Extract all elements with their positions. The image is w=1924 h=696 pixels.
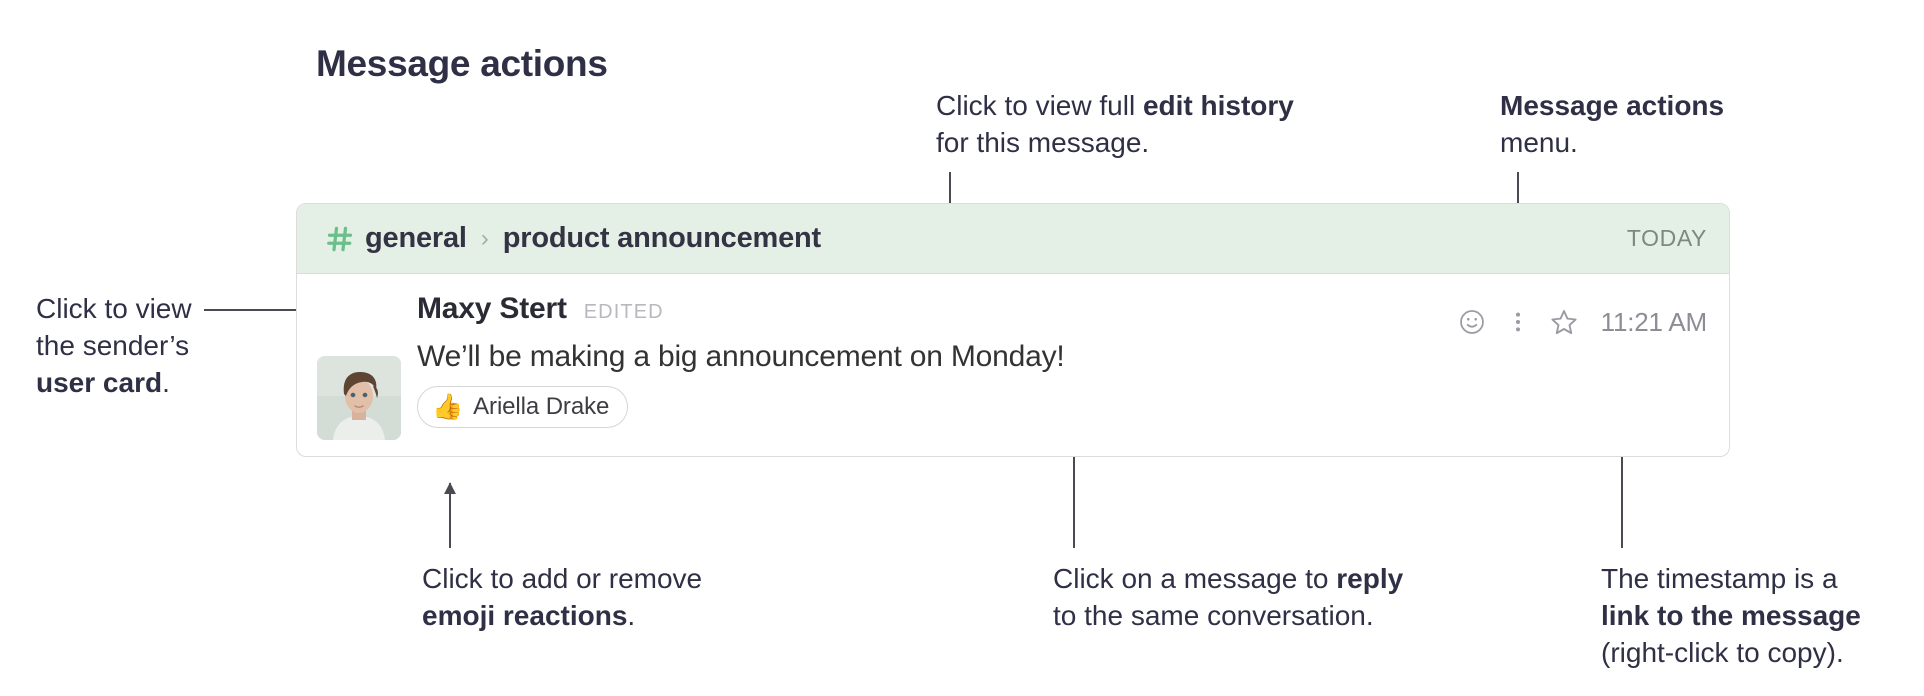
annotation-user-card: Click to view the sender’s user card. <box>36 290 276 401</box>
annotation-reply-line1-bold: reply <box>1336 563 1403 594</box>
annotation-user-card-line2: the sender’s <box>36 330 189 361</box>
annotation-actions-menu-line2: menu. <box>1500 127 1578 158</box>
annotation-user-card-line3: user card <box>36 367 162 398</box>
annotation-emoji-reactions: Click to add or remove emoji reactions. <box>422 560 782 634</box>
reaction-label: Ariella Drake <box>473 393 609 421</box>
annotation-edit-history-line1-bold: edit history <box>1143 90 1294 121</box>
stream-name[interactable]: general <box>365 222 467 255</box>
annotation-timestamp: The timestamp is a link to the message (… <box>1601 560 1924 671</box>
edited-label[interactable]: EDITED <box>584 301 664 324</box>
message-card: general › product announcement TODAY <box>296 203 1730 457</box>
annotation-user-card-line1: Click to view <box>36 293 192 324</box>
annotation-emoji-line2: emoji reactions <box>422 600 627 631</box>
annotation-reply-line2: to the same conversation. <box>1053 600 1374 631</box>
recipient-date-label[interactable]: TODAY <box>1627 225 1707 252</box>
message-controls: 11:21 AM <box>1449 302 1707 342</box>
message-row[interactable]: Maxy Stert EDITED We’ll be making a big … <box>297 274 1729 456</box>
annotation-timestamp-line2: link to the message <box>1601 600 1861 631</box>
emoji-reaction-icon[interactable] <box>1449 302 1495 342</box>
reaction-pill[interactable]: 👍 Ariella Drake <box>417 386 628 428</box>
annotation-reply: Click on a message to reply to the same … <box>1053 560 1453 634</box>
thumbs-up-icon: 👍 <box>432 395 463 420</box>
breadcrumb-chevron-icon: › <box>481 227 489 251</box>
recipient-bar: general › product announcement TODAY <box>297 204 1729 274</box>
page-root: Message actions Click to view full edit … <box>0 0 1924 696</box>
avatar[interactable] <box>317 356 401 440</box>
page-title: Message actions <box>316 43 608 85</box>
annotation-actions-menu-line1: Message actions <box>1500 90 1724 121</box>
annotation-edit-history-line1-plain: Click to view full <box>936 90 1143 121</box>
annotation-edit-history: Click to view full edit history for this… <box>936 87 1356 161</box>
annotation-reply-line1-plain: Click on a message to <box>1053 563 1336 594</box>
reactions-row: 👍 Ariella Drake <box>417 386 1707 428</box>
annotation-actions-menu: Message actions menu. <box>1500 87 1800 161</box>
annotation-timestamp-line1: The timestamp is a <box>1601 563 1838 594</box>
annotation-user-card-line3-tail: . <box>162 367 170 398</box>
hash-icon[interactable] <box>325 224 355 254</box>
annotation-emoji-line2-tail: . <box>627 600 635 631</box>
annotation-timestamp-line3: (right-click to copy). <box>1601 637 1844 668</box>
message-timestamp-link[interactable]: 11:21 AM <box>1601 307 1707 338</box>
message-content[interactable]: We’ll be making a big announcement on Mo… <box>417 340 1707 374</box>
sender-name[interactable]: Maxy Stert <box>417 292 567 326</box>
message-actions-icon[interactable] <box>1495 302 1541 342</box>
annotation-emoji-line1: Click to add or remove <box>422 563 702 594</box>
star-icon[interactable] <box>1541 302 1587 342</box>
topic-name[interactable]: product announcement <box>503 222 821 255</box>
annotation-edit-history-line2: for this message. <box>936 127 1149 158</box>
